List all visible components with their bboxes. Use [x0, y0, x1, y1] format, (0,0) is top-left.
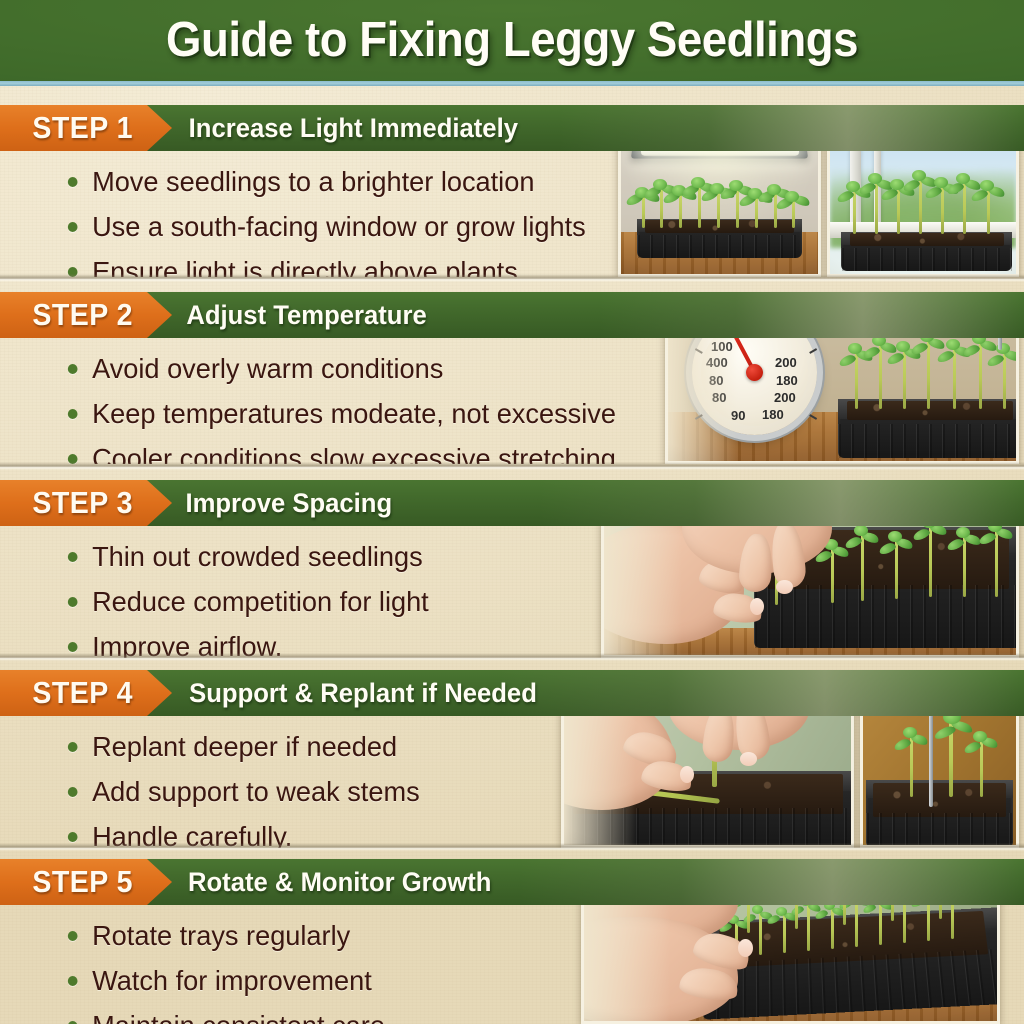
bullet-text: Avoid overly warm conditions: [92, 353, 443, 384]
list-item: Watch for improvement: [62, 958, 625, 1003]
bullet-text: Watch for improvement: [92, 965, 372, 996]
bullet-text: Thin out crowded seedlings: [92, 541, 423, 572]
dial-number: 200: [774, 390, 796, 405]
bullet-dot-icon: [68, 177, 78, 187]
list-item: Reduce competition for light: [62, 579, 625, 624]
step-number-label-4: STEP 4: [32, 674, 133, 712]
step-section-5: STEP 5 Rotate & Monitor Growth Rotate tr…: [0, 859, 1024, 1024]
step-number-label-5: STEP 5: [32, 863, 133, 901]
header-banner: Guide to Fixing Leggy Seedlings: [0, 0, 1024, 86]
step-bullets-2: Avoid overly warm conditions Keep temper…: [62, 346, 642, 464]
bullet-text: Rotate trays regularly: [92, 920, 350, 951]
dial-number: 80: [712, 390, 726, 405]
bullet-text: Cooler conditions slow excessive stretch…: [92, 443, 623, 464]
dial-number: 400: [706, 355, 728, 370]
bullet-dot-icon: [68, 642, 78, 652]
bullet-dot-icon: [68, 742, 78, 752]
bullet-text: Replant deeper if needed: [92, 731, 397, 762]
step-bullets-1: Move seedlings to a brighter location Us…: [62, 159, 642, 277]
list-item: Maintain consistent care: [62, 1003, 625, 1024]
list-item: Replant deeper if needed: [62, 724, 625, 769]
page-title: Guide to Fixing Leggy Seedlings: [36, 11, 988, 69]
step-number-label-2: STEP 2: [32, 296, 133, 334]
step-title-2: Adjust Temperature: [186, 298, 426, 332]
bullet-dot-icon: [68, 409, 78, 419]
bullet-dot-icon: [68, 832, 78, 842]
section-divider: [0, 843, 1024, 851]
bullet-dot-icon: [68, 552, 78, 562]
bullet-dot-icon: [68, 931, 78, 941]
bullet-text: Reduce competition for light: [92, 586, 429, 617]
dial-number: 90: [731, 408, 745, 423]
bullet-dot-icon: [68, 787, 78, 797]
bullet-text: Keep temperatures modeate, not excessive: [92, 398, 616, 429]
bullet-dot-icon: [68, 364, 78, 374]
dial-number: 100: [711, 339, 733, 354]
list-item: Thin out crowded seedlings: [62, 534, 625, 579]
step-banner-4: STEP 4 Support & Replant if Needed: [0, 670, 1024, 716]
step-section-1: STEP 1 Increase Light Immediately Move s…: [0, 105, 1024, 277]
list-item: Add support to weak stems: [62, 769, 625, 814]
step-bullets-5: Rotate trays regularly Watch for improve…: [62, 913, 642, 1024]
bullet-dot-icon: [68, 976, 78, 986]
step-title-5: Rotate & Monitor Growth: [188, 865, 491, 899]
bullet-text: Use a south-facing window or grow lights: [92, 211, 586, 242]
infographic-root: Guide to Fixing Leggy Seedlings: [0, 0, 1024, 1024]
list-item: Cooler conditions slow excessive stretch…: [62, 436, 625, 464]
dial-number: 80: [709, 373, 723, 388]
list-item: Use a south-facing window or grow lights: [62, 204, 625, 249]
section-divider: [0, 653, 1024, 661]
step-section-2: 100 400 80 80 90 200 180 200 180: [0, 292, 1024, 464]
step-banner-1: STEP 1 Increase Light Immediately: [0, 105, 1024, 151]
dial-number: 180: [776, 373, 798, 388]
step-number-label-1: STEP 1: [32, 109, 133, 147]
section-divider: [0, 274, 1024, 282]
step-number-label-3: STEP 3: [32, 484, 133, 522]
step-section-4: STEP 4 Support & Replant if Needed Repla…: [0, 670, 1024, 848]
step-title-3: Improve Spacing: [185, 486, 392, 520]
section-divider: [0, 462, 1024, 470]
bullet-text: Move seedlings to a brighter location: [92, 166, 534, 197]
list-item: Ensure light is directly above plants.: [62, 249, 625, 277]
dial-hub: [746, 364, 763, 381]
list-item: Rotate trays regularly: [62, 913, 625, 958]
step-title-4: Support & Replant if Needed: [189, 676, 537, 710]
step-banner-5: STEP 5 Rotate & Monitor Growth: [0, 859, 1024, 905]
list-item: Avoid overly warm conditions: [62, 346, 625, 391]
dial-number: 180: [762, 407, 784, 422]
step-banner-2: STEP 2 Adjust Temperature: [0, 292, 1024, 338]
list-item: Keep temperatures modeate, not excessive: [62, 391, 625, 436]
step-bullets-3: Thin out crowded seedlings Reduce compet…: [62, 534, 642, 658]
step-section-3: STEP 3 Improve Spacing Thin out crowded …: [0, 480, 1024, 658]
bullet-text: Maintain consistent care: [92, 1010, 385, 1024]
step-bullets-4: Replant deeper if needed Add support to …: [62, 724, 642, 848]
bullet-dot-icon: [68, 597, 78, 607]
bullet-text: Add support to weak stems: [92, 776, 420, 807]
dial-number: 200: [775, 355, 797, 370]
list-item: Move seedlings to a brighter location: [62, 159, 625, 204]
step-title-1: Increase Light Immediately: [189, 111, 518, 145]
support-stake: [929, 711, 933, 807]
bullet-dot-icon: [68, 222, 78, 232]
step-banner-3: STEP 3 Improve Spacing: [0, 480, 1024, 526]
